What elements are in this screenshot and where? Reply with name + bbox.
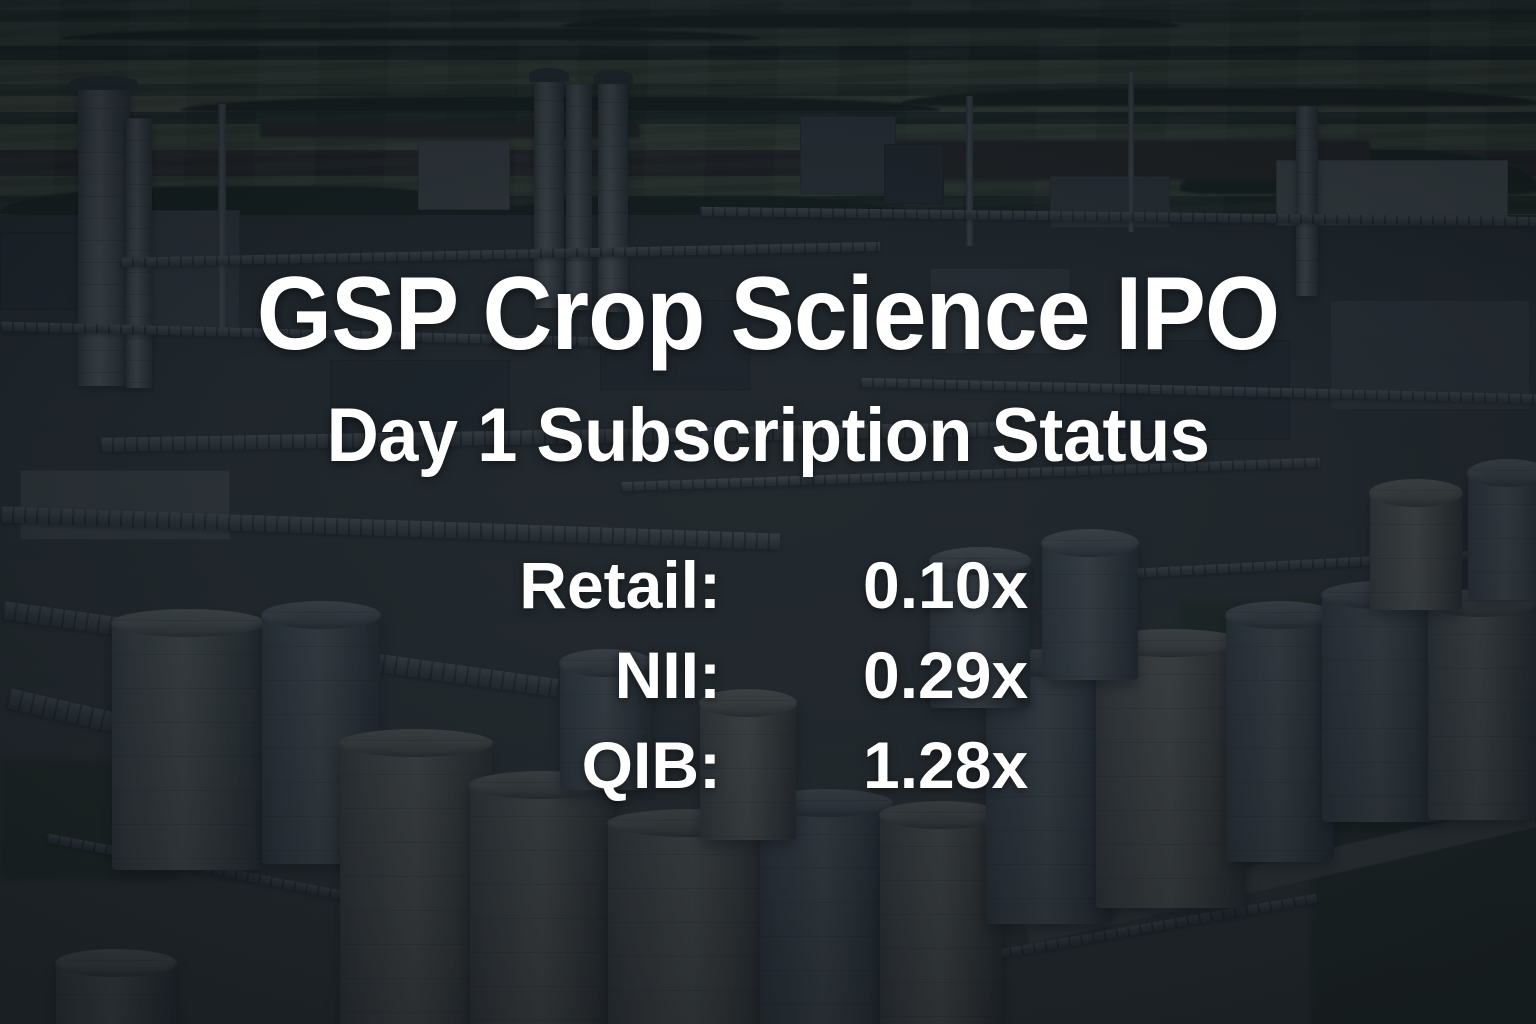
- stat-label-qib: QIB:: [493, 720, 721, 810]
- list-item: Retail: 0.10x: [493, 540, 1043, 630]
- stat-value-nii: 0.29x: [863, 630, 1043, 720]
- poster-text-layer: GSP Crop Science IPO Day 1 Subscription …: [0, 0, 1536, 1024]
- list-item: NII: 0.29x: [493, 630, 1043, 720]
- page-subtitle: Day 1 Subscription Status: [38, 398, 1497, 474]
- stat-label-nii: NII:: [493, 630, 721, 720]
- stat-value-retail: 0.10x: [863, 540, 1043, 630]
- page-title: GSP Crop Science IPO: [54, 262, 1482, 366]
- subscription-stats-list: Retail: 0.10x NII: 0.29x QIB: 1.28x: [0, 540, 1536, 810]
- stat-label-retail: Retail:: [493, 540, 721, 630]
- stat-value-qib: 1.28x: [863, 720, 1043, 810]
- ipo-status-poster: GSP Crop Science IPO Day 1 Subscription …: [0, 0, 1536, 1024]
- list-item: QIB: 1.28x: [493, 720, 1043, 810]
